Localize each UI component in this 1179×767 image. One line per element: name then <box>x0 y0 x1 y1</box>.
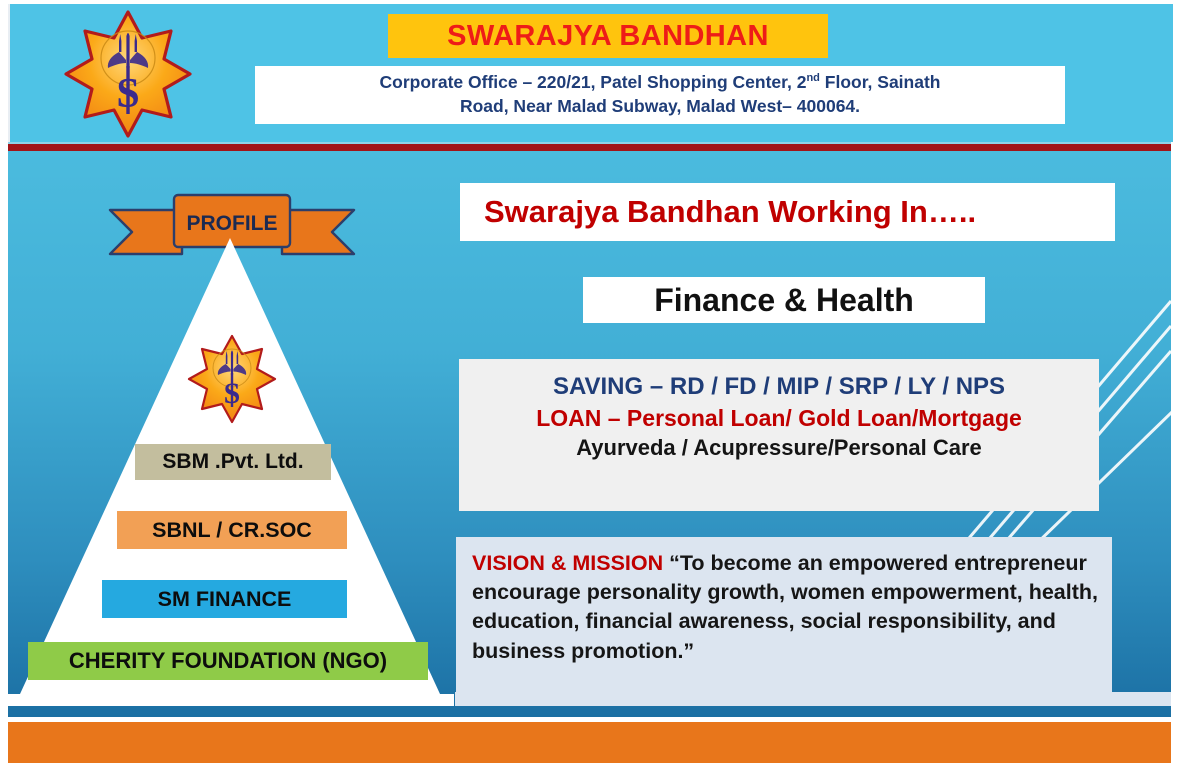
vision-mission-paragraph: VISION & MISSION “To become an empowered… <box>472 549 1098 666</box>
presentation-slide: S SWARAJYA BANDHAN Corporate Office – 22… <box>0 0 1179 767</box>
saving-label: SAVING <box>553 373 643 400</box>
swarajya-bandhan-star-emblem-icon: S <box>52 8 204 140</box>
vision-mission-box: VISION & MISSION “To become an empowered… <box>456 537 1112 693</box>
profile-ribbon-label: PROFILE <box>186 212 277 235</box>
services-health-line: Ayurveda / Acupressure/Personal Care <box>459 433 1099 462</box>
pyramid-level-sm-finance[interactable]: SM FINANCE <box>102 580 347 618</box>
footer-orange-bar <box>8 722 1171 763</box>
loan-label: LOAN <box>536 405 601 431</box>
pyramid-level-cherity-foundation[interactable]: CHERITY FOUNDATION (NGO) <box>28 642 428 680</box>
services-saving-line: SAVING – RD / FD / MIP / SRP / LY / NPS <box>459 371 1099 403</box>
vision-mission-heading: VISION & MISSION <box>472 551 663 575</box>
address-line-1: Corporate Office – 220/21, Patel Shoppin… <box>380 71 941 95</box>
address-ordinal-suffix: nd <box>806 73 819 85</box>
services-loan-line: LOAN – Personal Loan/ Gold Loan/Mortgage <box>459 403 1099 433</box>
org-title-chip: SWARAJYA BANDHAN <box>388 14 828 58</box>
org-title: SWARAJYA BANDHAN <box>447 20 769 53</box>
corporate-address-box: Corporate Office – 220/21, Patel Shoppin… <box>255 66 1065 124</box>
pyramid-star-emblem-icon: S <box>183 333 281 430</box>
footer-white-strip <box>8 694 454 706</box>
address-line-2: Road, Near Malad Subway, Malad West– 400… <box>460 95 860 119</box>
sector-title-box: Finance & Health <box>583 277 985 323</box>
pyramid-level-sbm[interactable]: SBM .Pvt. Ltd. <box>135 444 331 480</box>
working-in-title: Swarajya Bandhan Working In….. <box>484 194 976 230</box>
footer-lavender-strip <box>455 692 1171 706</box>
sector-title: Finance & Health <box>654 282 914 319</box>
working-in-title-box: Swarajya Bandhan Working In….. <box>460 183 1115 241</box>
services-box: SAVING – RD / FD / MIP / SRP / LY / NPS … <box>459 359 1099 511</box>
saving-items: – RD / FD / MIP / SRP / LY / NPS <box>643 373 1005 400</box>
loan-items: – Personal Loan/ Gold Loan/Mortgage <box>601 405 1021 431</box>
pyramid-level-sbnl[interactable]: SBNL / CR.SOC <box>117 511 347 549</box>
